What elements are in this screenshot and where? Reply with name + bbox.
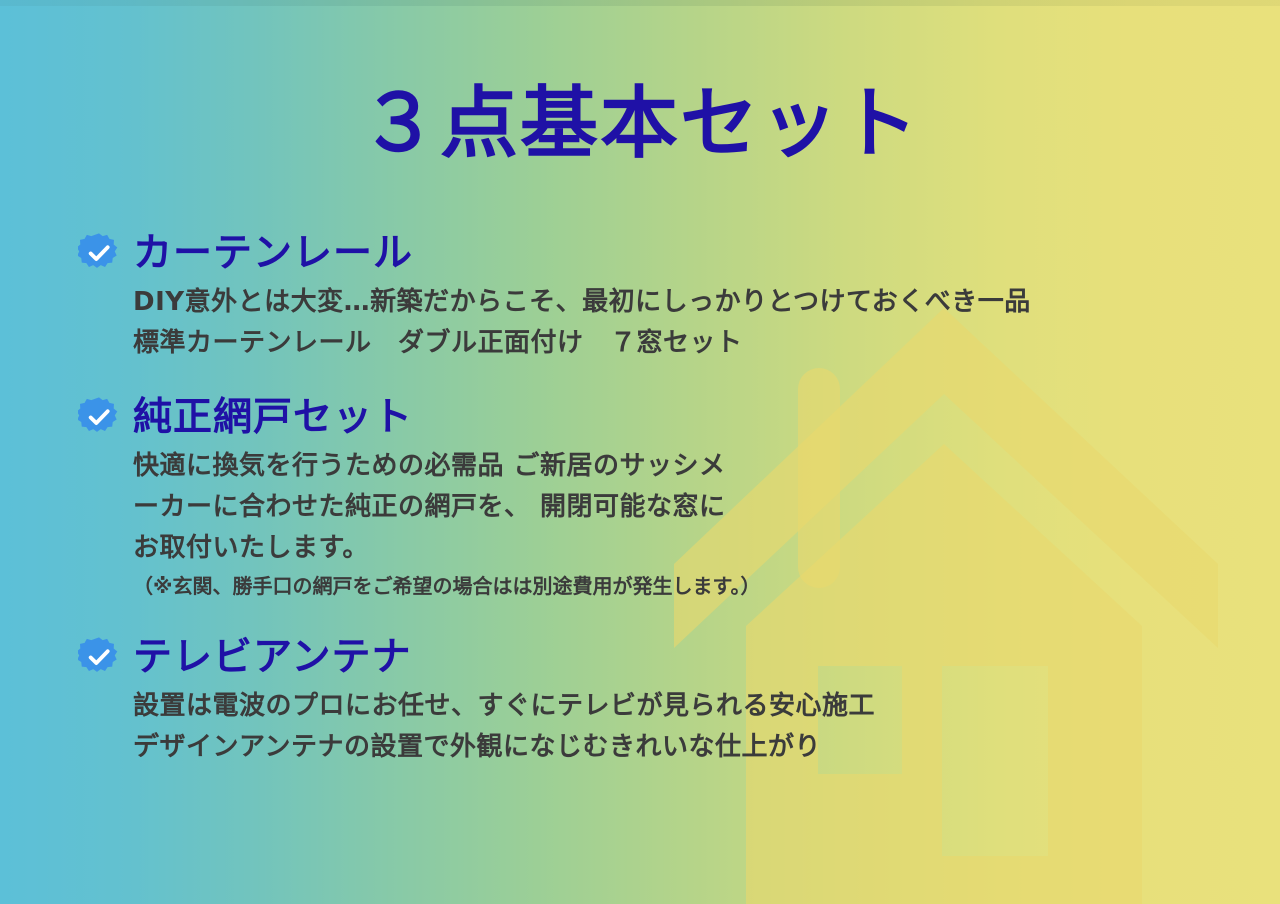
feature-title: 純正網戸セット xyxy=(133,398,413,437)
feature-title: テレビアンテナ xyxy=(133,638,411,677)
feature-body: 快適に換気を行うための必需品 ご新居のサッシメ ーカーに合わせた純正の網戸を、 … xyxy=(133,446,1238,601)
feature-body-line: ーカーに合わせた純正の網戸を、 開閉可能な窓に xyxy=(133,487,1238,528)
feature-body-line: 設置は電波のプロにお任せ、すぐにテレビが見られる安心施工 xyxy=(133,686,1238,727)
verified-check-badge-icon xyxy=(78,232,120,274)
top-edge-band xyxy=(0,0,1280,6)
feature-body: 設置は電波のプロにお任せ、すぐにテレビが見られる安心施工 デザインアンテナの設置… xyxy=(133,686,1238,768)
feature-body: DIY意外とは大変…新築だからこそ、最初にしっかりとつけておくべき一品 標準カー… xyxy=(133,282,1238,364)
feature-item-screen-door-set: 純正網戸セット 快適に換気を行うための必需品 ご新居のサッシメ ーカーに合わせた… xyxy=(78,392,1238,601)
feature-body-line: DIY意外とは大変…新築だからこそ、最初にしっかりとつけておくべき一品 xyxy=(133,282,1238,323)
feature-heading: 純正網戸セット xyxy=(78,392,1238,442)
feature-item-curtain-rail: カーテンレール DIY意外とは大変…新築だからこそ、最初にしっかりとつけておくべ… xyxy=(78,228,1238,364)
promo-poster: ３点基本セット カーテンレール DIY意外とは大変…新築だからこそ、最初にしっか… xyxy=(0,0,1280,904)
feature-body-line: 快適に換気を行うための必需品 ご新居のサッシメ xyxy=(133,446,1238,487)
feature-heading: カーテンレール xyxy=(78,228,1238,278)
feature-body-note: （※玄関、勝手口の網戸をご希望の場合はは別途費用が発生します。） xyxy=(133,571,1238,601)
feature-body-line: 標準カーテンレール ダブル正面付け ７窓セット xyxy=(133,323,1238,364)
feature-item-tv-antenna: テレビアンテナ 設置は電波のプロにお任せ、すぐにテレビが見られる安心施工 デザイ… xyxy=(78,632,1238,768)
feature-heading: テレビアンテナ xyxy=(78,632,1238,682)
feature-title: カーテンレール xyxy=(133,234,413,273)
feature-body-line: お取付いたします。 xyxy=(133,528,1238,569)
verified-check-badge-icon xyxy=(78,636,120,678)
verified-check-badge-icon xyxy=(78,396,120,438)
page-title: ３点基本セット xyxy=(0,85,1280,163)
feature-body-line: デザインアンテナの設置で外観になじむきれいな仕上がり xyxy=(133,727,1238,768)
